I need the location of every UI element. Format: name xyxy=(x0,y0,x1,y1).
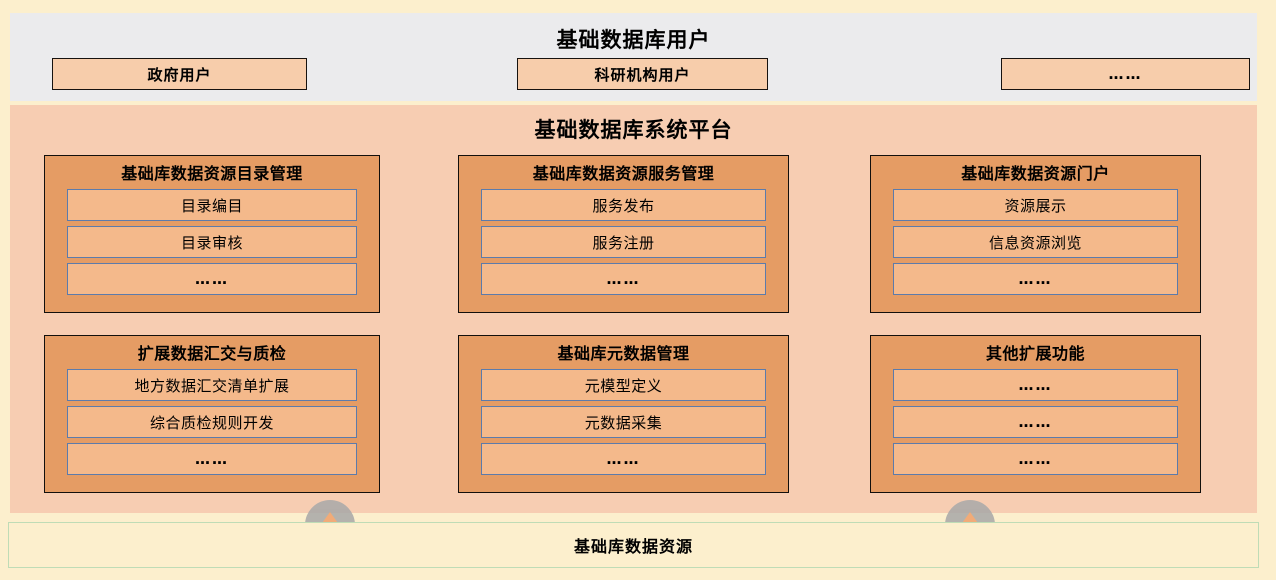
module-data-collection-quality[interactable]: 扩展数据汇交与质检 地方数据汇交清单扩展 综合质检规则开发 …… xyxy=(44,335,380,493)
module-other-extensions[interactable]: 其他扩展功能 …… …… …… xyxy=(870,335,1201,493)
module-item-list: 目录编目 目录审核 …… xyxy=(67,189,357,295)
module-service-management[interactable]: 基础库数据资源服务管理 服务发布 服务注册 …… xyxy=(458,155,789,313)
module-item-list: 服务发布 服务注册 …… xyxy=(481,189,766,295)
module-title: 基础库数据资源门户 xyxy=(893,160,1178,188)
resource-band-title: 基础库数据资源 xyxy=(574,533,693,557)
module-item[interactable]: 信息资源浏览 xyxy=(893,226,1178,258)
module-item[interactable]: 综合质检规则开发 xyxy=(67,406,357,438)
module-item[interactable]: 元模型定义 xyxy=(481,369,766,401)
platform-band: 基础数据库系统平台 基础库数据资源目录管理 目录编目 目录审核 …… 基础库数据… xyxy=(10,105,1257,513)
module-metadata-management[interactable]: 基础库元数据管理 元模型定义 元数据采集 …… xyxy=(458,335,789,493)
user-type-research-institution[interactable]: 科研机构用户 xyxy=(517,58,768,90)
module-resource-portal[interactable]: 基础库数据资源门户 资源展示 信息资源浏览 …… xyxy=(870,155,1201,313)
resource-band: 基础库数据资源 xyxy=(8,522,1259,568)
module-item-more[interactable]: …… xyxy=(481,443,766,475)
module-item[interactable]: 元数据采集 xyxy=(481,406,766,438)
module-item-more[interactable]: …… xyxy=(67,443,357,475)
module-item[interactable]: 资源展示 xyxy=(893,189,1178,221)
user-type-government[interactable]: 政府用户 xyxy=(52,58,307,90)
user-type-list: 政府用户 科研机构用户 …… xyxy=(10,58,1257,92)
module-item[interactable]: 服务发布 xyxy=(481,189,766,221)
module-item-more[interactable]: …… xyxy=(893,443,1178,475)
platform-title: 基础数据库系统平台 xyxy=(10,114,1257,144)
module-item-more[interactable]: …… xyxy=(893,263,1178,295)
module-title: 其他扩展功能 xyxy=(893,340,1178,368)
module-title: 基础库数据资源服务管理 xyxy=(481,160,766,188)
module-item[interactable]: 目录审核 xyxy=(67,226,357,258)
module-item[interactable]: 服务注册 xyxy=(481,226,766,258)
module-catalog-management[interactable]: 基础库数据资源目录管理 目录编目 目录审核 …… xyxy=(44,155,380,313)
module-title: 扩展数据汇交与质检 xyxy=(67,340,357,368)
module-item[interactable]: 目录编目 xyxy=(67,189,357,221)
module-item-list: 资源展示 信息资源浏览 …… xyxy=(893,189,1178,295)
module-item-list: …… …… …… xyxy=(893,369,1178,475)
user-type-more[interactable]: …… xyxy=(1001,58,1250,90)
module-item-more[interactable]: …… xyxy=(67,263,357,295)
module-title: 基础库数据资源目录管理 xyxy=(67,160,357,188)
module-item-more[interactable]: …… xyxy=(893,369,1178,401)
users-band-title: 基础数据库用户 xyxy=(10,24,1257,54)
module-item-more[interactable]: …… xyxy=(481,263,766,295)
architecture-diagram: 基础数据库用户 政府用户 科研机构用户 …… 基础数据库系统平台 基础库数据资源… xyxy=(0,0,1276,580)
module-title: 基础库元数据管理 xyxy=(481,340,766,368)
users-band: 基础数据库用户 政府用户 科研机构用户 …… xyxy=(10,13,1257,101)
module-item-list: 元模型定义 元数据采集 …… xyxy=(481,369,766,475)
module-item-more[interactable]: …… xyxy=(893,406,1178,438)
module-item[interactable]: 地方数据汇交清单扩展 xyxy=(67,369,357,401)
module-item-list: 地方数据汇交清单扩展 综合质检规则开发 …… xyxy=(67,369,357,475)
